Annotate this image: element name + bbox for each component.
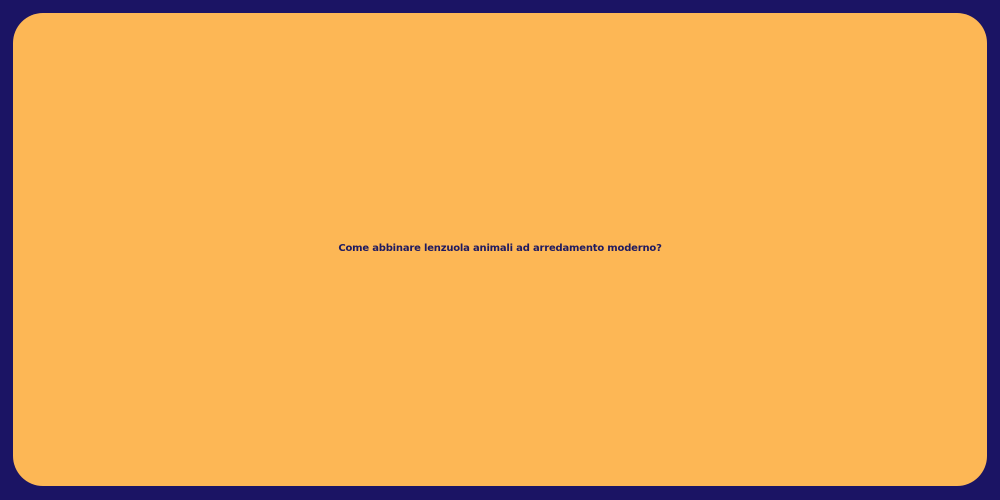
page-title: Come abbinare lenzuola animali ad arreda… — [13, 243, 987, 256]
card-panel: Come abbinare lenzuola animali ad arreda… — [13, 13, 987, 486]
card-frame: Come abbinare lenzuola animali ad arreda… — [0, 0, 1000, 500]
